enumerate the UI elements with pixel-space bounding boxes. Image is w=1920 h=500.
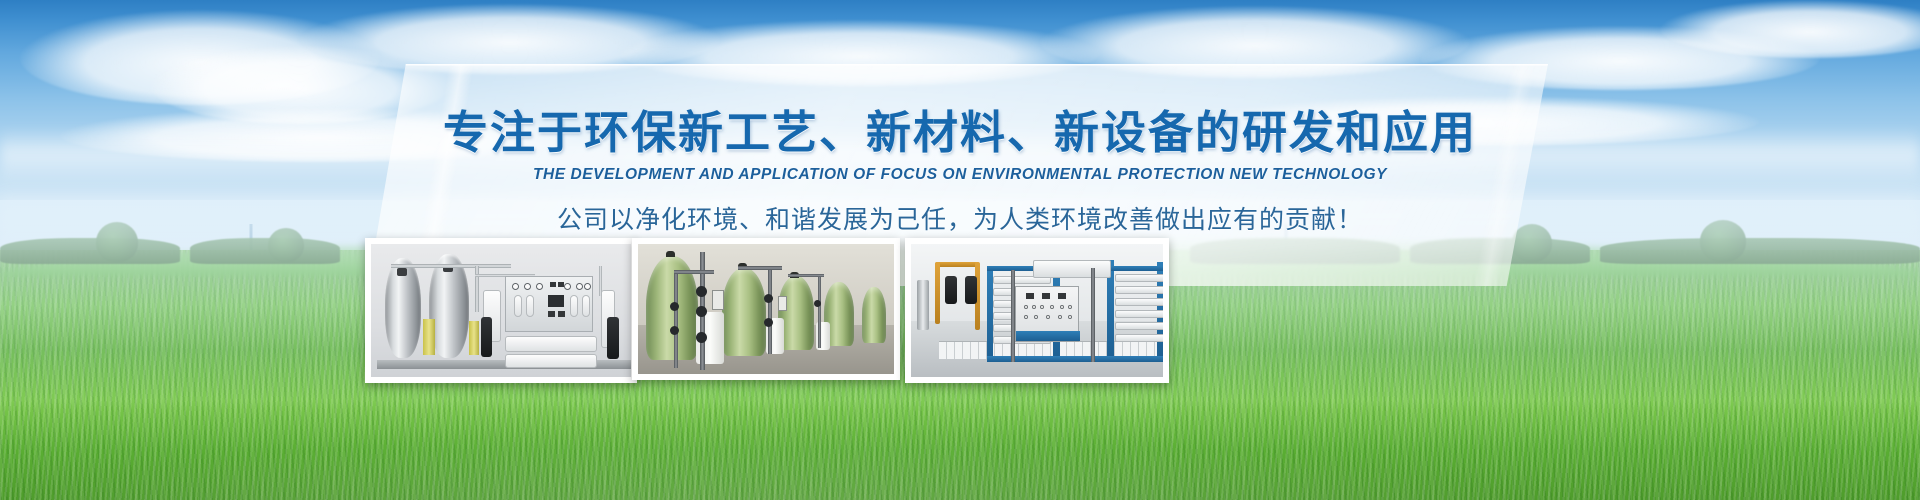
pipe (599, 266, 602, 296)
pipe (768, 266, 772, 354)
yellow-drum (469, 321, 479, 355)
sight-glass (582, 295, 590, 317)
valve (696, 306, 707, 317)
pressure-gauge (576, 283, 583, 290)
membrane-vessel (1115, 310, 1163, 318)
gauge (1024, 305, 1028, 309)
gauge (1040, 305, 1044, 309)
membrane-vessel (1115, 286, 1163, 294)
digital-display (548, 295, 564, 307)
gauge (1060, 305, 1064, 309)
pressure-gauge (512, 283, 519, 290)
product-photo-group (0, 0, 1920, 500)
pressure-gauge (564, 283, 571, 290)
valve (764, 294, 773, 303)
gauge (1032, 305, 1036, 309)
green-frp-filter-tank-row (638, 244, 894, 374)
indicator-light (558, 282, 564, 287)
sight-glass (570, 295, 578, 317)
pipe (674, 270, 678, 368)
frp-filter-tank (862, 287, 886, 343)
gauge (1034, 315, 1038, 319)
valve (764, 318, 773, 327)
yellow-drum (423, 319, 435, 355)
membrane-vessel (1115, 334, 1163, 342)
pressure-gauge (584, 283, 591, 290)
sight-glass (526, 295, 534, 317)
pump (607, 317, 619, 359)
membrane-vessel (1115, 322, 1163, 330)
product-photo-1[interactable] (365, 238, 637, 383)
gauge (1024, 315, 1028, 319)
tank-head-valve (666, 251, 675, 257)
filter-housing (917, 280, 929, 330)
valve (696, 332, 707, 343)
sight-glass (514, 295, 522, 317)
industrial-ro-membrane-plant (911, 244, 1163, 377)
control-panel (1015, 286, 1079, 342)
gauge (1046, 315, 1050, 319)
pipe (1091, 268, 1095, 362)
pipe (391, 264, 511, 268)
stainless-steel-ro-water-treatment-skid (371, 244, 631, 377)
membrane-vessel (505, 336, 597, 352)
valve (670, 326, 679, 335)
duct-manifold (1033, 260, 1111, 278)
hero-banner: 专注于环保新工艺、新材料、新设备的研发和应用 THE DEVELOPMENT A… (0, 0, 1920, 500)
membrane-vessel (1115, 274, 1163, 282)
pipe (1011, 270, 1015, 362)
gauge (1068, 305, 1072, 309)
product-photo-3[interactable] (905, 238, 1169, 383)
orange-pipe (935, 262, 979, 267)
pipe (788, 274, 824, 277)
product-photo-2[interactable] (632, 238, 900, 380)
pressure-gauge (524, 283, 531, 290)
valve (814, 300, 821, 307)
pipe (818, 274, 821, 348)
gauge (1068, 315, 1072, 319)
indicator-light (1042, 293, 1050, 299)
push-button (548, 311, 555, 317)
pipe (738, 266, 782, 270)
indicator-light (1058, 293, 1066, 299)
pump (965, 276, 977, 304)
pressure-gauge (536, 283, 543, 290)
control-panel (505, 276, 593, 332)
membrane-vessel (505, 354, 597, 368)
gauge (1058, 315, 1062, 319)
controller-box (712, 290, 724, 310)
pipe (674, 270, 714, 274)
orange-pipe (935, 262, 940, 324)
frp-filter-tank (722, 268, 766, 356)
pump (945, 276, 957, 304)
valve (670, 302, 679, 311)
valve (696, 286, 707, 297)
membrane-vessel (1115, 298, 1163, 306)
push-button (558, 311, 565, 317)
gauge (1050, 305, 1054, 309)
tank-valve-head (397, 268, 407, 276)
pipe (475, 266, 479, 312)
controller-box (778, 296, 787, 311)
panel-base (1016, 331, 1080, 341)
pump (481, 317, 492, 357)
indicator-light (1026, 293, 1034, 299)
indicator-light (550, 282, 556, 287)
